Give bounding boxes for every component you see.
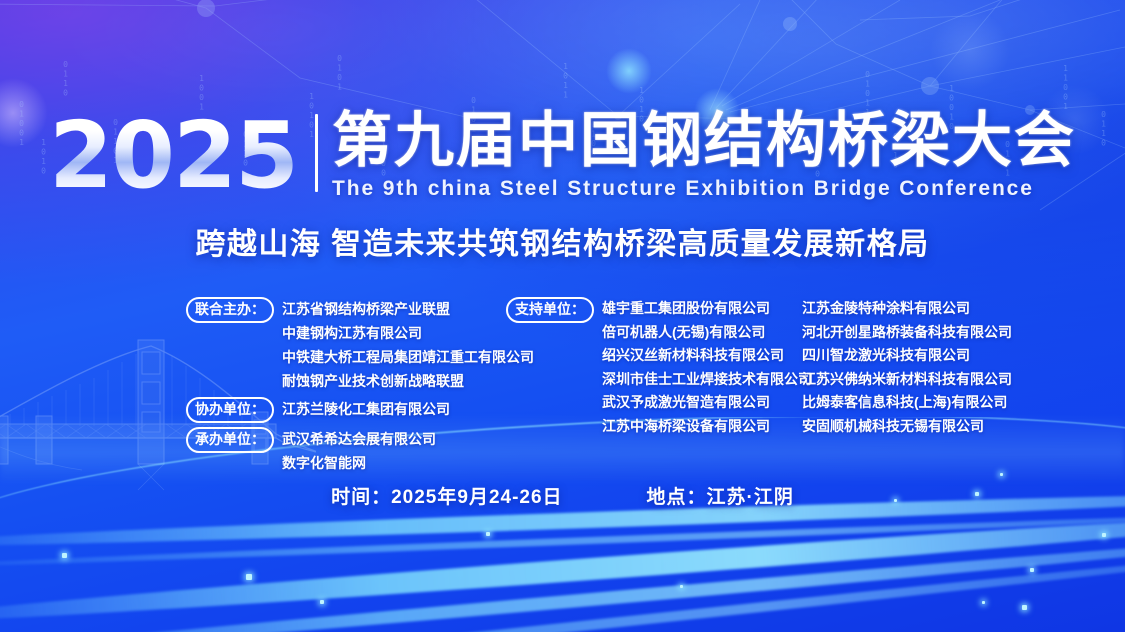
- sponsor-name: 江苏兰陵化工集团有限公司: [282, 397, 450, 421]
- year-2025: 2025: [49, 112, 303, 199]
- sponsor-label-supporting-unit: 协办单位：: [186, 397, 274, 423]
- headline-block: 2025 第九届中国钢结构桥梁大会 The 9th china Steel St…: [0, 110, 1125, 263]
- sponsor-column-right: 江苏金陵特种涂料有限公司 河北开创星路桥装备科技有限公司 四川智龙激光科技有限公…: [800, 297, 1030, 438]
- event-details: 时间：2025年9月24-26日 地点：江苏·江阴: [0, 482, 1125, 509]
- sponsor-name: 江苏金陵特种涂料有限公司: [800, 297, 1030, 321]
- sponsor-name: 江苏兴佛纳米新材料科技有限公司: [800, 368, 1030, 392]
- page-title-english: The 9th china Steel Structure Exhibition…: [332, 177, 1076, 201]
- sponsor-name: 中建钢构江苏有限公司: [282, 321, 534, 345]
- light-streaks-decoration: [0, 417, 1125, 632]
- sponsor-group: 支持单位： 雄宇重工集团股份有限公司 倍可机器人(无锡)有限公司 绍兴汉丝新材料…: [506, 297, 806, 438]
- sponsor-name-list: 雄宇重工集团股份有限公司 倍可机器人(无锡)有限公司 绍兴汉丝新材料科技有限公司…: [602, 297, 812, 438]
- sponsor-name: 雄宇重工集团股份有限公司: [602, 297, 812, 321]
- sponsor-name: 深圳市佳士工业焊接技术有限公司: [602, 368, 812, 392]
- sponsor-name: 数字化智能网: [282, 451, 436, 475]
- sponsor-name: 比姆泰客信息科技(上海)有限公司: [800, 391, 1030, 415]
- event-date: 时间：2025年9月24-26日: [331, 482, 562, 509]
- sponsor-group: 协办单位： 江苏兰陵化工集团有限公司: [186, 397, 516, 423]
- sponsor-name-list: 武汉希希达会展有限公司 数字化智能网: [282, 427, 436, 475]
- sponsor-column-middle: 支持单位： 雄宇重工集团股份有限公司 倍可机器人(无锡)有限公司 绍兴汉丝新材料…: [506, 297, 806, 442]
- sponsor-name: 江苏省钢结构桥梁产业联盟: [282, 297, 534, 321]
- sponsor-name: 江苏中海桥梁设备有限公司: [602, 415, 812, 439]
- sponsor-name-list: 江苏金陵特种涂料有限公司 河北开创星路桥装备科技有限公司 四川智龙激光科技有限公…: [800, 297, 1030, 438]
- sponsor-label-sponsor-unit: 支持单位：: [506, 297, 594, 323]
- conference-banner: 01001 1010 0110 01101 0101 1001 0110 101…: [0, 0, 1125, 632]
- sponsor-name: 安固顺机械科技无锡有限公司: [800, 415, 1030, 439]
- sponsor-label-host-unit: 承办单位：: [186, 427, 274, 453]
- sponsor-name-list: 江苏省钢结构桥梁产业联盟 中建钢构江苏有限公司 中铁建大桥工程局集团靖江重工有限…: [282, 297, 534, 393]
- sponsor-name: 武汉希希达会展有限公司: [282, 427, 436, 451]
- sponsor-column-left: 联合主办： 江苏省钢结构桥梁产业联盟 中建钢构江苏有限公司 中铁建大桥工程局集团…: [186, 297, 516, 479]
- sponsor-name: 中铁建大桥工程局集团靖江重工有限公司: [282, 345, 534, 369]
- sponsor-name: 四川智龙激光科技有限公司: [800, 344, 1030, 368]
- sponsor-name: 耐蚀钢产业技术创新战略联盟: [282, 369, 534, 393]
- sponsor-name: 绍兴汉丝新材料科技有限公司: [602, 344, 812, 368]
- sponsor-group: 联合主办： 江苏省钢结构桥梁产业联盟 中建钢构江苏有限公司 中铁建大桥工程局集团…: [186, 297, 516, 393]
- page-title: 第九届中国钢结构桥梁大会: [332, 110, 1076, 171]
- sponsor-label-co-organizer: 联合主办：: [186, 297, 274, 323]
- sponsor-name: 武汉予成激光智造有限公司: [602, 391, 812, 415]
- sponsor-name: 倍可机器人(无锡)有限公司: [602, 321, 812, 345]
- tagline: 跨越山海 智造未来共筑钢结构桥梁高质量发展新格局: [0, 219, 1125, 263]
- sponsor-name-list: 江苏兰陵化工集团有限公司: [282, 397, 450, 421]
- sponsor-group: 承办单位： 武汉希希达会展有限公司 数字化智能网: [186, 427, 516, 475]
- title-divider: [315, 114, 318, 192]
- sponsors-block: 联合主办： 江苏省钢结构桥梁产业联盟 中建钢构江苏有限公司 中铁建大桥工程局集团…: [0, 297, 1125, 447]
- event-location: 地点：江苏·江阴: [647, 482, 794, 509]
- sponsor-name: 河北开创星路桥装备科技有限公司: [800, 321, 1030, 345]
